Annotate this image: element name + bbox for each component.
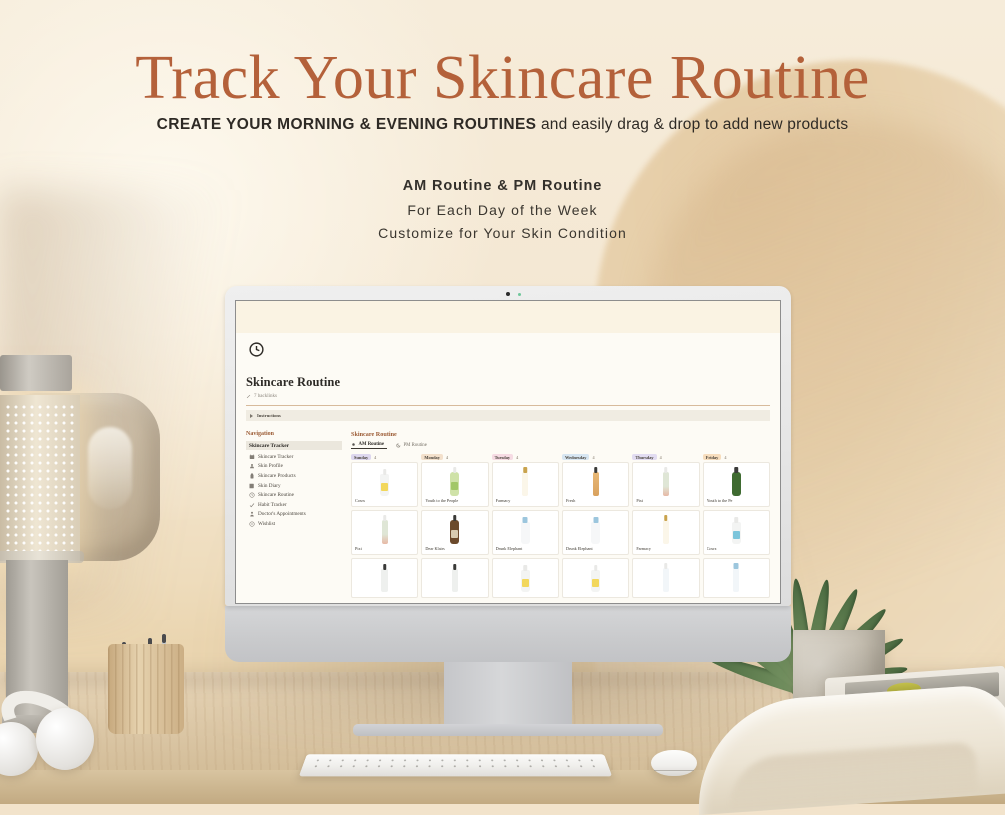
day-name-pill: Friday: [703, 454, 722, 460]
product-label: Cosrx: [707, 546, 766, 551]
page-headline: Track Your Skincare Routine: [0, 46, 1005, 111]
feature-list: AM Routine & PM Routine For Each Day of …: [0, 178, 1005, 248]
product-image: [425, 562, 484, 592]
day-name-pill: Monday: [421, 454, 443, 460]
day-column-wednesday[interactable]: Wednesday 4 Fresh Drun: [562, 453, 629, 601]
product-image: [566, 562, 625, 592]
product-card[interactable]: [421, 558, 488, 598]
product-image: [425, 466, 484, 496]
product-image: [566, 514, 625, 544]
product-card[interactable]: Pixi: [632, 462, 699, 507]
product-label: Pixi: [636, 498, 695, 503]
day-name-pill: Sunday: [351, 454, 371, 460]
page-title: Skincare Routine: [246, 375, 770, 390]
product-card[interactable]: Farmacy: [632, 510, 699, 555]
routine-tabs: AM Routine PM Routine: [351, 442, 770, 449]
day-header: Friday 4: [703, 453, 770, 462]
mouse-seam: [654, 770, 694, 771]
product-image: [425, 514, 484, 544]
product-card[interactable]: Youth to the Pe: [703, 462, 770, 507]
lamp-perforated-shade: [0, 395, 80, 561]
product-card[interactable]: [632, 558, 699, 598]
product-image: [355, 562, 414, 592]
product-card[interactable]: Youth to the People: [421, 462, 488, 507]
sidebar-item-label: Skincare Tracker: [258, 454, 293, 460]
feature-line-1: For Each Day of the Week: [0, 202, 1005, 218]
lamp-shade-perforations: [4, 403, 76, 551]
day-header: Thursday 4: [632, 453, 699, 462]
tab-active-underline: [351, 448, 387, 449]
day-column-monday[interactable]: Monday 4 Youth to the People: [421, 453, 488, 601]
main-panel: Skincare Routine AM Routine: [351, 431, 770, 601]
habit-icon: [249, 502, 255, 508]
products-icon: [249, 473, 255, 479]
monitor-bezel: Skincare Routine 7 backlinks Instruction…: [225, 286, 791, 606]
routine-icon: [249, 492, 255, 498]
day-card-count: 4: [446, 455, 448, 460]
feature-line-2: Customize for Your Skin Condition: [0, 225, 1005, 241]
instructions-label: Instructions: [257, 413, 281, 418]
day-card-count: 4: [516, 455, 518, 460]
sidebar-item-skincare-products[interactable]: Skincare Products: [246, 471, 342, 481]
lamp-top-cap: [0, 355, 72, 391]
sidebar-item-label: Skincare Products: [258, 473, 296, 479]
day-column-thursday[interactable]: Thursday 4 Pixi Farmac: [632, 453, 699, 601]
sidebar-item-label: Wishlist: [258, 521, 275, 527]
sidebar: Navigation Skincare Tracker Skincare Tra…: [246, 431, 342, 601]
routine-board: Sunday 4 Cosrx Pixi: [351, 453, 770, 601]
main-panel-title: Skincare Routine: [351, 431, 770, 438]
sidebar-item-skincare-routine[interactable]: Skincare Routine: [246, 490, 342, 500]
day-card-count: 4: [374, 455, 376, 460]
product-label: Drunk Elephant: [566, 546, 625, 551]
sidebar-item-skincare-tracker[interactable]: Skincare Tracker: [246, 452, 342, 462]
product-image: [355, 514, 414, 544]
day-card-count: 4: [724, 455, 726, 460]
sidebar-item-doctors-appointments[interactable]: Doctor's Appointments: [246, 510, 342, 520]
product-image: [636, 562, 695, 592]
brush-4-tip: [162, 634, 166, 643]
product-card[interactable]: Drunk Elephant: [492, 510, 559, 555]
tab-pm-routine[interactable]: PM Routine: [396, 443, 427, 448]
product-card[interactable]: [492, 558, 559, 598]
app-body: Skincare Routine 7 backlinks Instruction…: [236, 333, 780, 601]
product-image: [707, 514, 766, 544]
lamp-glass-reflection: [88, 427, 132, 509]
product-card[interactable]: Cosrx: [703, 510, 770, 555]
product-label: Fresh: [566, 498, 625, 503]
product-image: [636, 514, 695, 544]
product-image: [496, 562, 555, 592]
profile-icon: [249, 463, 255, 469]
day-card-count: 4: [660, 455, 662, 460]
monitor-stand-neck: [444, 662, 572, 724]
product-label: Drunk Elephant: [496, 546, 555, 551]
day-header: Monday 4: [421, 453, 488, 462]
instructions-toggle[interactable]: Instructions: [246, 410, 770, 421]
sidebar-item-label: Habit Tracker: [258, 502, 287, 508]
product-image: [566, 466, 625, 496]
pen-cup-body: [108, 644, 184, 734]
subheadline-bold: CREATE YOUR MORNING & EVENING ROUTINES: [157, 116, 537, 133]
sidebar-item-wishlist[interactable]: Wishlist: [246, 519, 342, 529]
day-column-friday[interactable]: Friday 4 Youth to the Pe: [703, 453, 770, 601]
backlinks-label: 7 backlinks: [254, 394, 277, 399]
app-top-banner: [236, 301, 780, 333]
product-image: [707, 466, 766, 496]
keyboard[interactable]: [299, 754, 612, 776]
product-image: [496, 514, 555, 544]
headphones: [0, 686, 108, 781]
doctor-icon: [249, 511, 255, 517]
product-image: [636, 466, 695, 496]
sidebar-item-skin-profile[interactable]: Skin Profile: [246, 462, 342, 472]
day-header: Wednesday 4: [562, 453, 629, 462]
day-name-pill: Thursday: [632, 454, 656, 460]
product-card[interactable]: [351, 558, 418, 598]
product-card[interactable]: Dear Klairs: [421, 510, 488, 555]
product-card[interactable]: Pixi: [351, 510, 418, 555]
product-card[interactable]: Drunk Elephant: [562, 510, 629, 555]
product-card[interactable]: Fresh: [562, 462, 629, 507]
day-name-pill: Wednesday: [562, 454, 589, 460]
day-header: Tuesday 4: [492, 453, 559, 462]
sidebar-item-label: Skin Diary: [258, 483, 281, 489]
tab-am-routine[interactable]: AM Routine: [351, 442, 387, 449]
skincare-routine-app[interactable]: Skincare Routine 7 backlinks Instruction…: [236, 301, 780, 603]
webcam-led-icon: [518, 293, 521, 296]
product-label: Pixi: [355, 546, 414, 551]
diary-icon: [249, 483, 255, 489]
product-label: Youth to the People: [425, 498, 484, 503]
sidebar-active-item[interactable]: Skincare Tracker: [246, 441, 342, 450]
title-divider: [246, 405, 770, 406]
day-card-count: 4: [592, 455, 594, 460]
day-name-pill: Tuesday: [492, 454, 513, 460]
webcam-icon: [506, 292, 510, 296]
sun-icon: [351, 442, 356, 447]
backlinks-indicator[interactable]: 7 backlinks: [246, 394, 770, 399]
pen-cup: [108, 630, 184, 734]
sidebar-item-label: Skincare Routine: [258, 492, 294, 498]
product-card[interactable]: Farmacy: [492, 462, 559, 507]
sidebar-item-label: Skin Profile: [258, 463, 283, 469]
product-label: Farmacy: [496, 498, 555, 503]
tab-label: PM Routine: [404, 443, 427, 448]
monitor-screen: Skincare Routine 7 backlinks Instruction…: [235, 300, 781, 604]
tracker-icon: [249, 454, 255, 460]
product-image: [355, 466, 414, 496]
product-card[interactable]: [703, 558, 770, 598]
day-header: Sunday 4: [351, 453, 418, 462]
headphones-earcup-right: [36, 708, 94, 770]
clock-icon: [248, 341, 770, 363]
monitor-stand-base: [353, 724, 663, 736]
link-icon: [246, 394, 251, 399]
product-image: [707, 562, 766, 592]
product-image: [496, 466, 555, 496]
product-label: Farmacy: [636, 546, 695, 551]
product-label: Cosrx: [355, 498, 414, 503]
product-label: Youth to the Pe: [707, 498, 766, 503]
sidebar-item-skin-diary[interactable]: Skin Diary: [246, 481, 342, 491]
chevron-right-icon: [250, 414, 253, 418]
product-card[interactable]: [562, 558, 629, 598]
page-subheadline: CREATE YOUR MORNING & EVENING ROUTINES a…: [0, 116, 1005, 134]
sidebar-item-habit-tracker[interactable]: Habit Tracker: [246, 500, 342, 510]
moon-icon: [396, 443, 401, 448]
day-column-sunday[interactable]: Sunday 4 Cosrx Pixi: [351, 453, 418, 601]
tab-label: AM Routine: [359, 442, 384, 447]
sidebar-item-label: Doctor's Appointments: [258, 511, 306, 517]
sidebar-title: Navigation: [246, 431, 342, 437]
product-card[interactable]: Cosrx: [351, 462, 418, 507]
product-label: Dear Klairs: [425, 546, 484, 551]
desktop-monitor: Skincare Routine 7 backlinks Instruction…: [225, 286, 791, 736]
app-columns: Navigation Skincare Tracker Skincare Tra…: [246, 431, 770, 601]
mouse[interactable]: [651, 750, 697, 776]
day-column-tuesday[interactable]: Tuesday 4 Farmacy Drun: [492, 453, 559, 601]
monitor-chin: [225, 606, 791, 662]
wishlist-icon: [249, 521, 255, 527]
feature-title: AM Routine & PM Routine: [0, 178, 1005, 194]
keyboard-keys: [308, 758, 603, 772]
subheadline-rest: and easily drag & drop to add new produc…: [536, 116, 848, 133]
